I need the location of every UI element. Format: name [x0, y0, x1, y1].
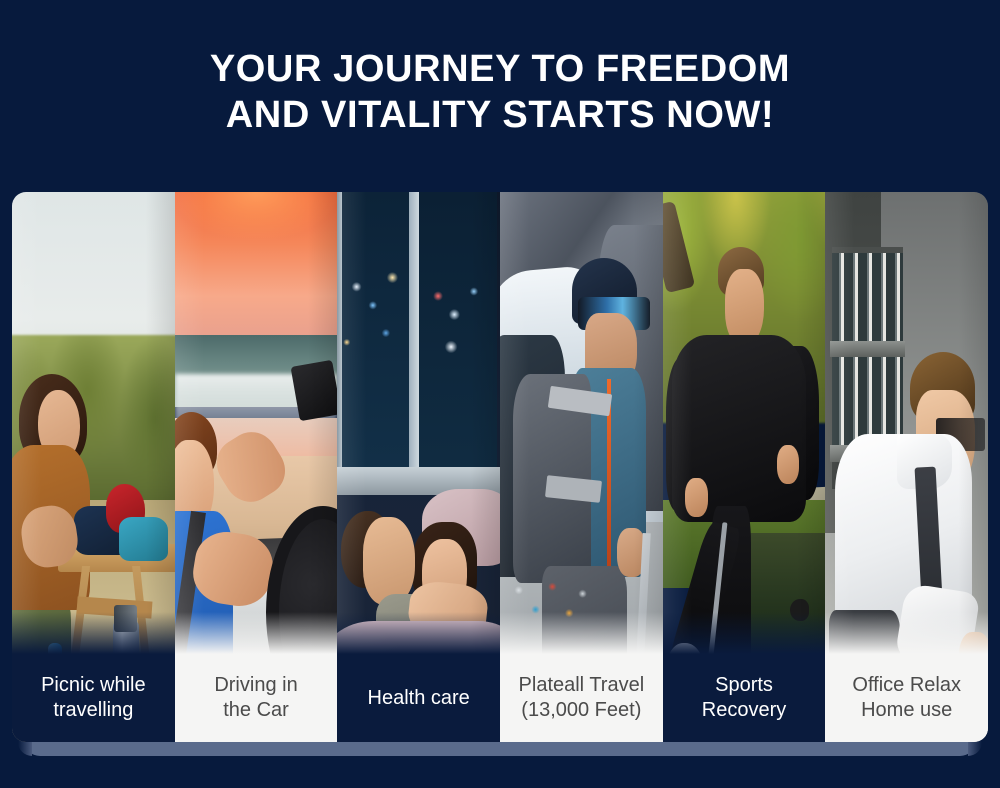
caption-picnic: Picnic while travelling — [12, 654, 175, 742]
use-case-panel-driving[interactable]: Driving in the Car — [175, 192, 338, 742]
caption-line-2: Recovery — [702, 699, 786, 721]
caption-line-2: Home use — [861, 699, 952, 721]
strip-base-shadow — [24, 740, 976, 756]
caption-line-2: travelling — [53, 699, 133, 721]
use-case-panel-picnic[interactable]: Picnic while travelling — [12, 192, 175, 742]
caption-fade — [500, 612, 663, 654]
use-case-gallery: Picnic while travelling Driving in the C… — [12, 192, 988, 742]
caption-plateau-travel: Plateall Travel (13,000 Feet) — [500, 654, 663, 742]
caption-office-relax: Office Relax Home use — [825, 654, 988, 742]
caption-line-1: Plateall Travel — [519, 674, 645, 696]
caption-fade — [337, 612, 500, 654]
caption-line-2: the Car — [223, 699, 289, 721]
use-case-panel-plateau-travel[interactable]: Plateall Travel (13,000 Feet) — [500, 192, 663, 742]
caption-line-1: Sports — [715, 674, 773, 696]
caption-sports-recovery: Sports Recovery — [663, 654, 826, 742]
caption-fade — [12, 612, 175, 654]
caption-fade — [825, 612, 988, 654]
headline-line-1: YOUR JOURNEY TO FREEDOM — [0, 46, 1000, 92]
caption-line-1: Picnic while — [41, 674, 145, 696]
caption-line-1: Office Relax — [852, 674, 961, 696]
caption-line-2: (13,000 Feet) — [521, 699, 641, 721]
caption-health-care: Health care — [337, 654, 500, 742]
caption-fade — [663, 612, 826, 654]
use-case-panel-office-relax[interactable]: Office Relax Home use — [825, 192, 988, 742]
caption-fade — [175, 612, 338, 654]
headline-line-2: AND VITALITY STARTS NOW! — [0, 92, 1000, 138]
caption-driving: Driving in the Car — [175, 654, 338, 742]
use-case-panel-health-care[interactable]: Health care — [337, 192, 500, 742]
page-title: YOUR JOURNEY TO FREEDOM AND VITALITY STA… — [0, 46, 1000, 138]
use-case-panel-sports-recovery[interactable]: Sports Recovery — [663, 192, 826, 742]
caption-line-1: Health care — [368, 687, 470, 709]
caption-line-1: Driving in — [214, 674, 297, 696]
